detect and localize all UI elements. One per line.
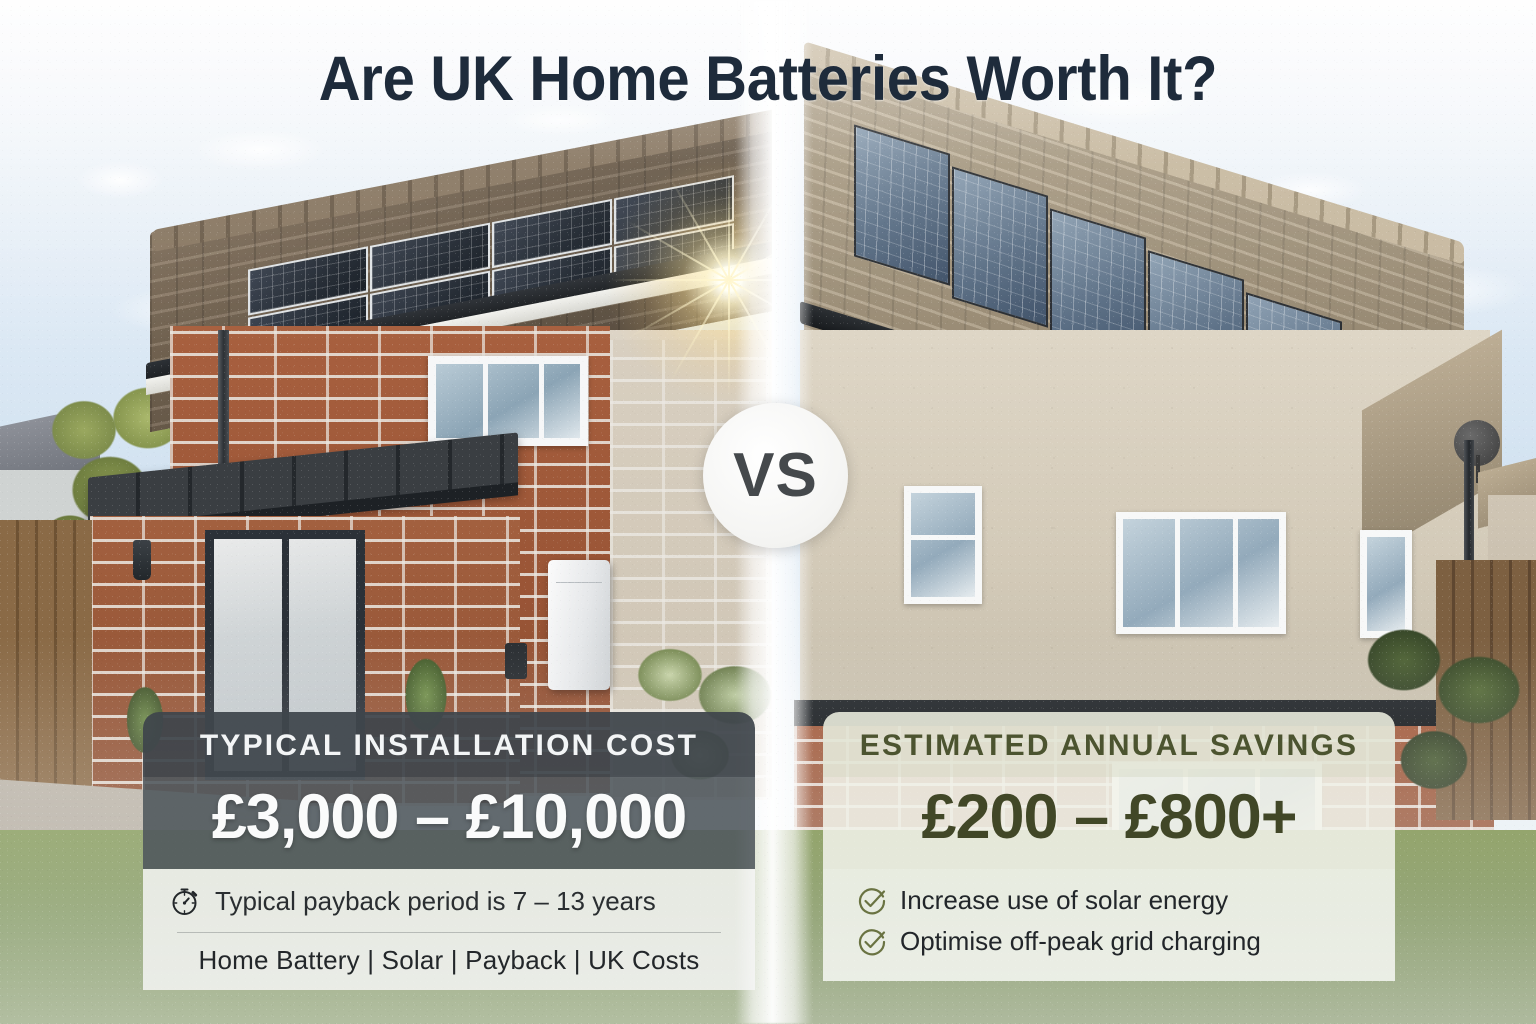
infographic-canvas: Are UK Home Batteries Worth It? VS TYPIC… xyxy=(0,0,1536,1024)
savings-card: ESTIMATED ANNUAL SAVINGS £200 – £800+ In… xyxy=(823,712,1395,1024)
inverter-box-left xyxy=(505,643,527,679)
window-right-wide xyxy=(1116,512,1286,634)
wall-lamp-icon xyxy=(133,540,151,580)
vs-badge-label: VS xyxy=(733,440,818,511)
stopwatch-icon xyxy=(169,885,201,917)
payback-row: Typical payback period is 7 – 13 years xyxy=(169,885,729,917)
fence-left xyxy=(0,520,92,810)
cost-card: TYPICAL INSTALLATION COST £3,000 – £10,0… xyxy=(143,712,755,1024)
benefit-label: Optimise off-peak grid charging xyxy=(900,926,1261,957)
check-circle-icon xyxy=(857,927,887,957)
savings-card-heading: ESTIMATED ANNUAL SAVINGS xyxy=(823,712,1395,777)
benefit-row: Optimise off-peak grid charging xyxy=(857,926,1369,957)
page-title: Are UK Home Batteries Worth It? xyxy=(61,46,1474,112)
benefit-row: Increase use of solar energy xyxy=(857,885,1369,916)
topic-tags: Home Battery | Solar | Payback | UK Cost… xyxy=(169,945,729,976)
card-divider-rule xyxy=(177,932,721,933)
cost-card-amount: £3,000 – £10,000 xyxy=(143,777,755,869)
vs-badge: VS xyxy=(703,403,848,548)
window-right-small xyxy=(904,486,982,604)
payback-text: Typical payback period is 7 – 13 years xyxy=(215,886,656,917)
cost-card-body: Typical payback period is 7 – 13 years H… xyxy=(143,869,755,990)
benefit-label: Increase use of solar energy xyxy=(900,885,1228,916)
savings-card-amount: £200 – £800+ xyxy=(823,777,1395,869)
cost-card-heading: TYPICAL INSTALLATION COST xyxy=(143,712,755,777)
home-battery-unit xyxy=(548,560,610,690)
savings-card-body: Increase use of solar energy Optimise of… xyxy=(823,869,1395,981)
check-circle-icon xyxy=(857,886,887,916)
